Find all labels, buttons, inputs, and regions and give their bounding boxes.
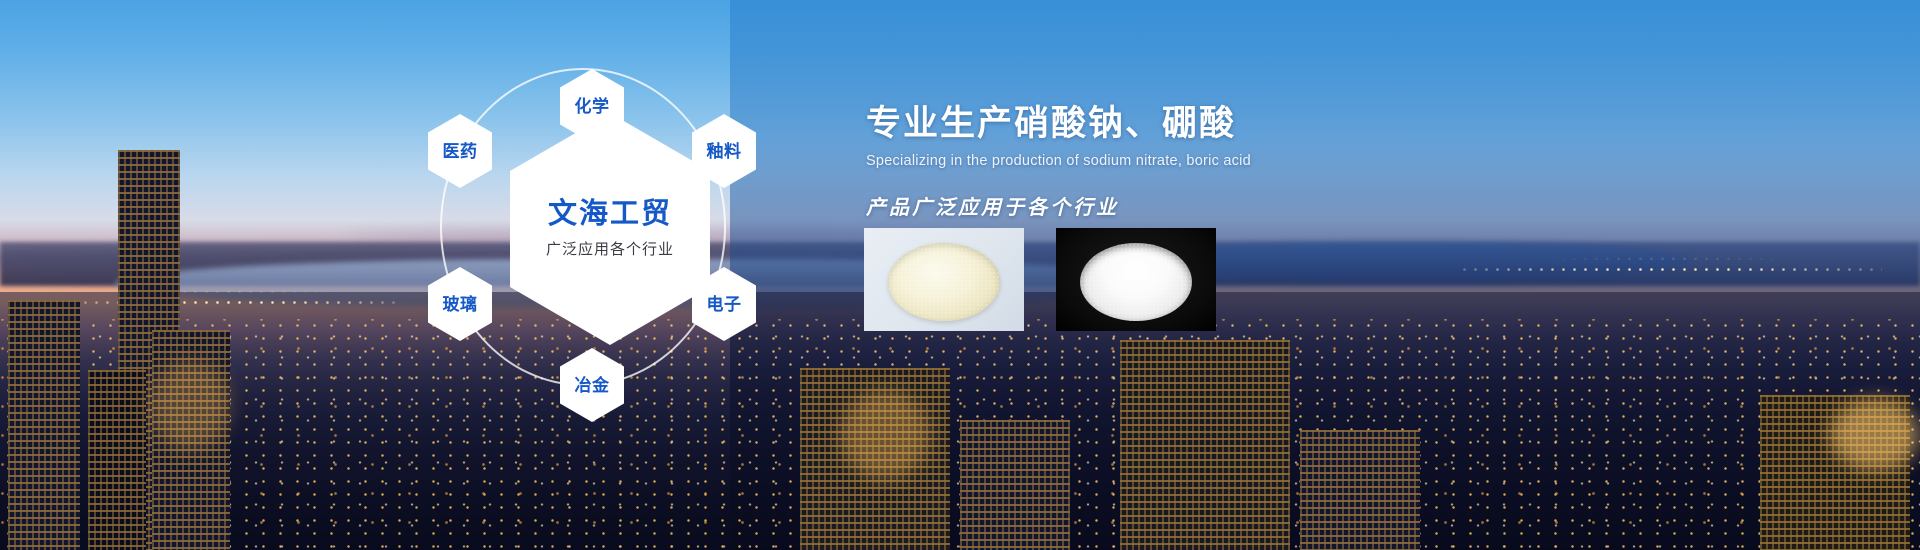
subtitle-english: Specializing in the production of sodium… bbox=[866, 153, 1566, 169]
hex-node-label: 釉料 bbox=[707, 143, 742, 160]
brand-tagline: 广泛应用各个行业 bbox=[546, 238, 674, 259]
light-glow bbox=[840, 390, 930, 480]
hex-node-label: 玻璃 bbox=[443, 296, 478, 313]
powder-grain-texture bbox=[888, 243, 1000, 321]
promo-banner: 化学 釉料 电子 冶金 玻璃 医药 文海工贸 广泛应用各个行业 专业生产硝酸钠、… bbox=[0, 0, 1920, 550]
powder-pile bbox=[1080, 243, 1192, 321]
powder-grain-texture bbox=[1080, 243, 1192, 321]
bridge-lights bbox=[1459, 253, 1881, 277]
skyscraper bbox=[8, 300, 80, 550]
light-glow bbox=[150, 360, 230, 450]
hex-node-label: 冶金 bbox=[575, 377, 610, 394]
bridge-lights bbox=[58, 286, 404, 310]
hex-node-label: 电子 bbox=[707, 296, 742, 313]
skyscraper bbox=[960, 420, 1070, 550]
light-glow bbox=[1830, 400, 1920, 470]
hex-node-label: 化学 bbox=[575, 98, 610, 115]
powder-pile bbox=[888, 243, 1000, 321]
product-photo-group bbox=[864, 228, 1216, 331]
skyscraper bbox=[1120, 340, 1290, 550]
hex-node-label: 医药 bbox=[443, 143, 478, 160]
tagline: 产品广泛应用于各个行业 bbox=[866, 191, 1566, 220]
product-photo-boric-acid[interactable] bbox=[1056, 228, 1216, 331]
hexagon-industry-wheel: 化学 釉料 电子 冶金 玻璃 医药 文海工贸 广泛应用各个行业 bbox=[430, 35, 750, 435]
page-title: 专业生产硝酸钠、硼酸 bbox=[866, 103, 1566, 144]
product-photo-sodium-nitrate[interactable] bbox=[864, 228, 1024, 331]
skyscraper bbox=[88, 370, 146, 550]
skyscraper bbox=[1300, 430, 1420, 550]
headline-block: 专业生产硝酸钠、硼酸 Specializing in the productio… bbox=[866, 103, 1566, 220]
brand-name: 文海工贸 bbox=[548, 199, 672, 231]
